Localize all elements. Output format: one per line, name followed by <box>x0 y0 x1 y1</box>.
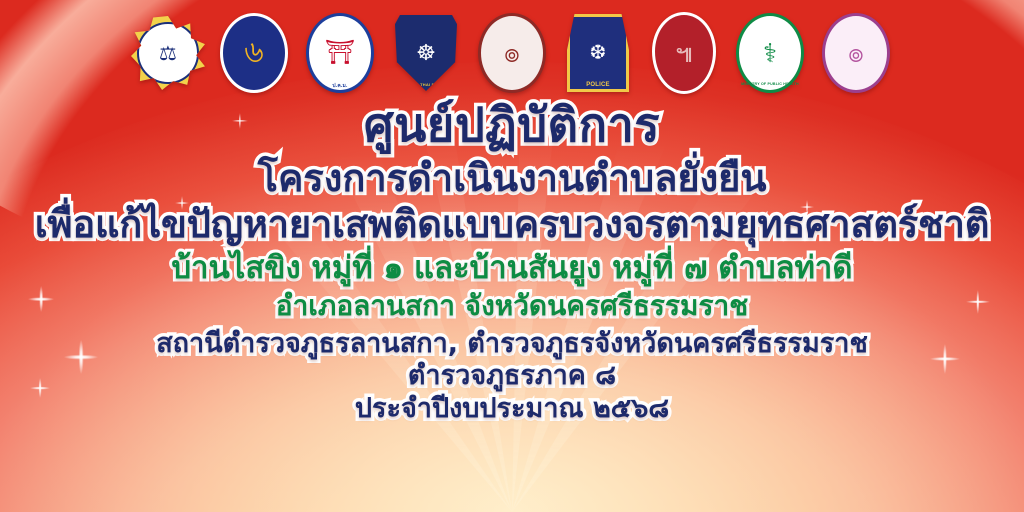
title-line-2: โครงการดำเนินงานตำบลยั่งยืน <box>0 150 1024 198</box>
emblem-label: ROYAL THAI POLICE <box>395 82 457 87</box>
provincial-administration-icon: ⛩ <box>325 41 355 65</box>
location-line-villages: บ้านไสขิง หมู่ที่ ๑ และบ้านสันยูง หมู่ที… <box>0 243 1024 285</box>
title-line-3: เพื่อแก้ไขปัญหายาเสพติดแบบครบวงจรตามยุทธ… <box>0 198 1024 244</box>
banner-root: ⚖ ৬ ⛩ ป.ค.ม. ☸ ROYAL THAI POLICE ๏ <box>0 0 1024 512</box>
caduceus-icon: ⚕ <box>763 40 777 66</box>
emblem-item: ๚ <box>647 12 721 94</box>
agency-line-police-region: ตำรวจภูธรภาค ๘ <box>0 357 1024 390</box>
singha-lion-icon: ৬ <box>244 38 264 68</box>
police-region-8-star-icon: ❆ <box>590 43 607 63</box>
emblem-item: ৬ <box>217 12 291 94</box>
emblem-item: ❆ POLICE <box>561 12 635 94</box>
agency-line-police-stations: สถานีตำรวจภูธรลานสกา, ตำรวจภูธรจังหวัดนค… <box>0 321 1024 358</box>
headline-block: ศูนย์ปฏิบัติการ โครงการดำเนินงานตำบลยั่ง… <box>0 100 1024 422</box>
title-line-1: ศูนย์ปฏิบัติการ <box>0 100 1024 150</box>
local-administration-deity-icon: ๏ <box>848 40 864 66</box>
emblem-item: ☸ ROYAL THAI POLICE <box>389 12 463 94</box>
emblem-item: ⚖ <box>131 12 205 94</box>
emblem-item: ⚕ MINISTRY OF PUBLIC HEALTH <box>733 12 807 94</box>
emblem-item: ⛩ ป.ค.ม. <box>303 12 377 94</box>
fiscal-year-line: ประจำปีงบประมาณ ๒๕๖๘ <box>0 390 1024 423</box>
scales-of-justice-icon: ⚖ <box>159 41 177 66</box>
royal-thai-police-crest-icon: ☸ <box>416 42 436 64</box>
emblem-item: ๏ <box>819 12 893 94</box>
location-line-district-province: อำเภอลานสกา จังหวัดนครศรีธรรมราช <box>0 285 1024 321</box>
emblem-label: ป.ค.ม. <box>303 82 377 90</box>
nakhon-si-thammarat-stupa-icon: ๚ <box>675 40 693 66</box>
garuda-seal-icon: ๏ <box>504 40 520 66</box>
emblem-label: POLICE <box>567 82 629 88</box>
emblem-label: MINISTRY OF PUBLIC HEALTH <box>739 82 801 86</box>
emblem-row: ⚖ ৬ ⛩ ป.ค.ม. ☸ ROYAL THAI POLICE ๏ <box>0 4 1024 102</box>
emblem-item: ๏ <box>475 12 549 94</box>
